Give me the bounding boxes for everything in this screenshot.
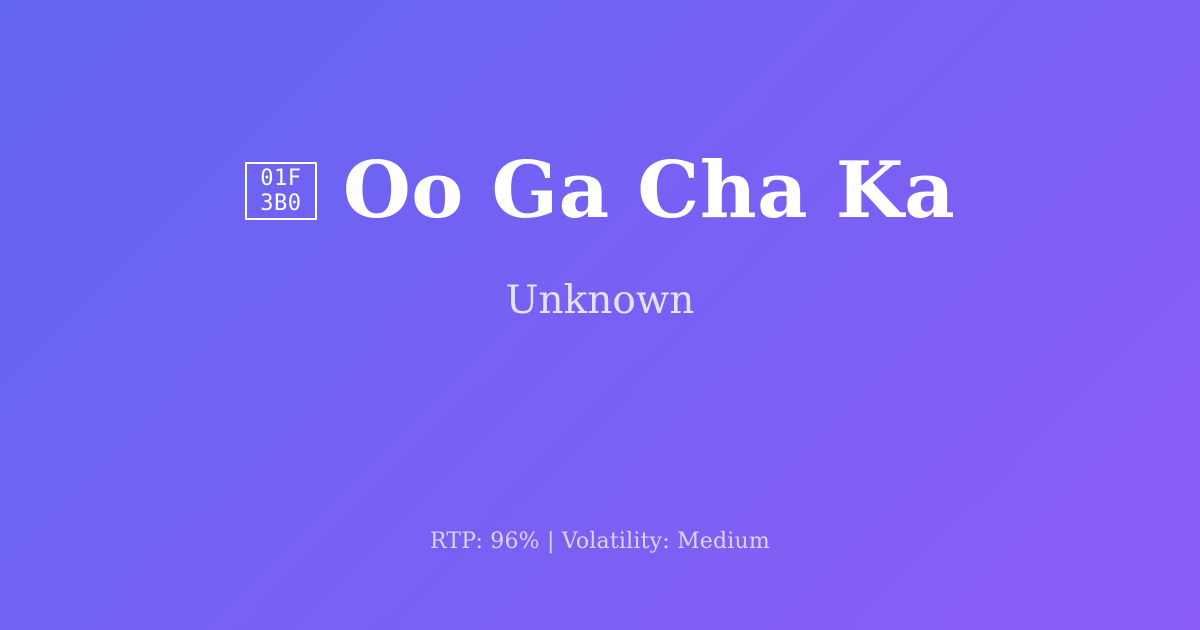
title-line: 01F 3B0 Oo Ga Cha Ka [0, 150, 1200, 232]
game-subtitle: Unknown [506, 278, 695, 325]
card-footer: RTP: 96% | Volatility: Medium [0, 528, 1200, 557]
card-heading-block: 01F 3B0 Oo Ga Cha Ka Unknown [0, 0, 1200, 510]
tofu-hex-bottom: 3B0 [260, 191, 301, 216]
tofu-hex-top: 01F [260, 166, 301, 191]
game-promo-card: 01F 3B0 Oo Ga Cha Ka Unknown RTP: 96% | … [0, 0, 1200, 630]
slot-machine-icon: 01F 3B0 [245, 162, 317, 220]
game-stats-line: RTP: 96% | Volatility: Medium [0, 528, 1200, 557]
page-title: Oo Ga Cha Ka [343, 150, 955, 232]
